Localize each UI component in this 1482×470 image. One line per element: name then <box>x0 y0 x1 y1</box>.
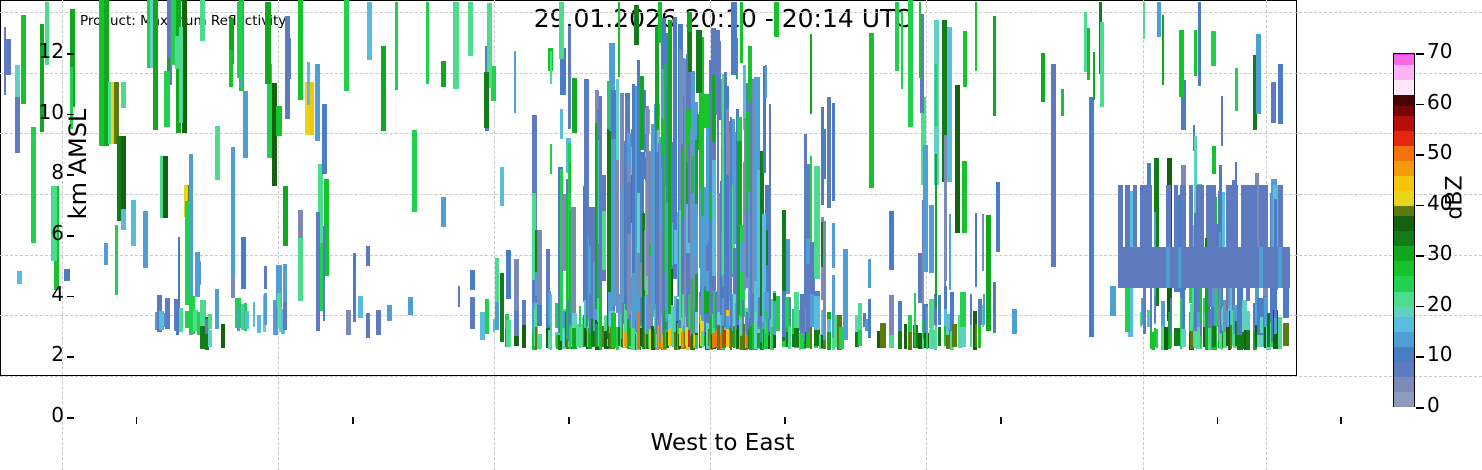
reflectivity-column <box>611 90 616 139</box>
colorbar-tick-mark <box>1416 154 1424 156</box>
reflectivity-column <box>975 2 977 72</box>
reflectivity-column <box>506 250 511 274</box>
reflectivity-column <box>208 314 211 329</box>
colorbar-tick-label: 60 <box>1427 90 1452 114</box>
reflectivity-column <box>500 167 503 206</box>
reflectivity-column <box>1211 31 1217 66</box>
reflectivity-column <box>579 325 582 348</box>
reflectivity-column <box>387 305 392 322</box>
x-tick-mark <box>352 417 354 424</box>
reflectivity-column <box>6 39 11 75</box>
reflectivity-column <box>453 2 459 90</box>
reflectivity-column <box>1164 327 1168 350</box>
reflectivity-column <box>810 34 812 114</box>
reflectivity-column <box>926 307 928 335</box>
colorbar-tick-mark <box>1416 255 1424 257</box>
reflectivity-column <box>441 61 446 87</box>
reflectivity-column <box>104 243 109 265</box>
colorbar-segment <box>1394 331 1414 347</box>
reflectivity-column <box>131 200 136 245</box>
reflectivity-column <box>944 135 947 282</box>
reflectivity-column <box>264 293 267 325</box>
x-tick-mark <box>136 417 138 424</box>
reflectivity-column <box>983 294 985 325</box>
colorbar-tick-label: 70 <box>1427 39 1452 63</box>
reflectivity-column <box>986 215 991 330</box>
reflectivity-column <box>572 78 577 133</box>
reflectivity-column <box>814 296 820 330</box>
reflectivity-column <box>1089 97 1094 337</box>
reflectivity-column <box>919 2 921 79</box>
reflectivity-column <box>1133 185 1138 247</box>
y-axis-label: km AMSL <box>64 74 92 254</box>
reflectivity-column <box>470 297 475 328</box>
reflectivity-column <box>395 2 398 90</box>
reflectivity-column <box>832 223 835 268</box>
reflectivity-column <box>1051 64 1056 267</box>
reflectivity-column <box>412 130 417 212</box>
reflectivity-column <box>786 239 790 294</box>
reflectivity-column <box>243 91 248 158</box>
reflectivity-column <box>1263 185 1268 247</box>
reflectivity-column <box>569 162 571 193</box>
x-axis-label: West to East <box>74 430 1371 456</box>
reflectivity-column <box>1179 30 1184 96</box>
colorbar-tick-mark <box>1416 205 1424 207</box>
reflectivity-column <box>495 258 499 301</box>
reflectivity-column <box>560 109 563 139</box>
reflectivity-column <box>1148 185 1153 247</box>
reflectivity-column <box>1170 298 1172 334</box>
reflectivity-column <box>1061 89 1065 116</box>
reflectivity-column <box>315 64 320 141</box>
reflectivity-column <box>914 293 916 332</box>
reflectivity-column <box>153 0 158 130</box>
reflectivity-column <box>889 211 894 270</box>
reflectivity-column <box>616 143 618 313</box>
reflectivity-column <box>506 320 511 347</box>
colorbar-segment <box>1394 129 1414 145</box>
reflectivity-column <box>868 299 872 338</box>
reflectivity-column <box>426 2 429 85</box>
reflectivity-column <box>1110 286 1115 316</box>
reflectivity-column <box>935 64 937 126</box>
reflectivity-column <box>1221 96 1223 145</box>
reflectivity-column <box>470 270 475 289</box>
x-tick-mark <box>784 417 786 424</box>
y-tick-label: 4 <box>18 282 64 306</box>
reflectivity-column <box>737 117 742 141</box>
reflectivity-column <box>559 2 564 60</box>
reflectivity-column <box>381 46 386 131</box>
reflectivity-column <box>658 2 661 43</box>
reflectivity-column <box>550 51 552 84</box>
reflectivity-column <box>579 306 582 327</box>
reflectivity-column <box>823 129 826 179</box>
reflectivity-column <box>740 2 744 63</box>
reflectivity-column <box>114 82 119 144</box>
reflectivity-column <box>550 294 553 326</box>
reflectivity-column <box>1189 185 1194 247</box>
reflectivity-column <box>276 106 282 136</box>
colorbar-segment <box>1394 260 1414 276</box>
colorbar-segment <box>1394 205 1414 216</box>
reflectivity-column <box>898 301 902 331</box>
reflectivity-column <box>1180 298 1182 328</box>
reflectivity-column <box>602 211 606 271</box>
y-tick-label: 10 <box>18 100 64 124</box>
reflectivity-column <box>832 103 835 200</box>
colorbar-segment <box>1394 275 1414 291</box>
reflectivity-column <box>1093 52 1095 100</box>
colorbar-segment <box>1394 94 1414 105</box>
reflectivity-column <box>895 2 899 72</box>
reflectivity-column <box>880 323 886 348</box>
colorbar-tick-label: 0 <box>1427 393 1440 417</box>
reflectivity-column <box>618 2 620 77</box>
reflectivity-column <box>1211 185 1216 247</box>
colorbar-segment <box>1394 305 1414 316</box>
reflectivity-column <box>1198 2 1200 87</box>
reflectivity-column <box>159 311 163 330</box>
reflectivity-column <box>1233 185 1238 247</box>
colorbar-tick-label: 10 <box>1427 342 1452 366</box>
colorbar-segment <box>1394 145 1414 161</box>
reflectivity-column <box>955 85 960 234</box>
colorbar-segment <box>1394 114 1414 130</box>
reflectivity-column <box>1118 185 1123 247</box>
reflectivity-column <box>1157 2 1161 37</box>
reflectivity-column <box>179 308 184 332</box>
y-tick-label: 8 <box>18 160 64 184</box>
colorbar-segment <box>1394 79 1414 95</box>
reflectivity-column <box>165 298 169 329</box>
x-tick-mark <box>568 417 570 424</box>
y-tick-label: 2 <box>18 342 64 366</box>
reflectivity-column <box>1271 82 1276 122</box>
reflectivity-column <box>929 205 933 273</box>
reflectivity-column <box>1194 30 1197 76</box>
reflectivity-column <box>1087 28 1090 80</box>
y-tick-label: 6 <box>18 221 64 245</box>
colorbar-tick-label: 20 <box>1427 292 1452 316</box>
colorbar-segment <box>1394 230 1414 246</box>
reflectivity-column <box>143 211 148 269</box>
reflectivity-column <box>568 26 571 129</box>
colorbar-segment <box>1394 346 1414 362</box>
reflectivity-column <box>935 307 937 326</box>
reflectivity-column <box>237 2 241 79</box>
reflectivity-column <box>241 237 246 290</box>
reflectivity-column <box>869 33 874 188</box>
reflectivity-column <box>367 2 372 60</box>
reflectivity-column <box>1041 53 1045 102</box>
reflectivity-column <box>1162 15 1165 84</box>
reflectivity-column <box>358 296 363 319</box>
reflectivity-column <box>634 5 639 45</box>
reflectivity-column <box>571 207 575 326</box>
reflectivity-column <box>468 2 473 56</box>
colorbar-segment <box>1394 315 1414 331</box>
reflectivity-column <box>952 324 957 347</box>
reflectivity-column <box>264 266 267 289</box>
reflectivity-columns <box>0 0 1297 376</box>
reflectivity-column <box>1283 323 1288 346</box>
reflectivity-column <box>774 2 779 37</box>
reflectivity-column <box>982 214 985 271</box>
y-tick-label: 0 <box>18 403 64 427</box>
reflectivity-column <box>164 71 170 127</box>
reflectivity-column <box>996 182 999 253</box>
x-tick-mark <box>1340 417 1342 424</box>
reflectivity-column <box>962 161 967 234</box>
plot-area <box>0 0 1297 376</box>
reflectivity-column <box>938 295 941 325</box>
reflectivity-column <box>616 79 618 159</box>
colorbar-segment <box>1394 361 1414 377</box>
colorbar-segment <box>1394 391 1414 407</box>
reflectivity-column <box>1246 311 1250 330</box>
reflectivity-column <box>611 313 616 348</box>
colorbar-tick-mark <box>1416 104 1424 106</box>
reflectivity-column <box>514 311 519 336</box>
reflectivity-column <box>923 145 928 272</box>
reflectivity-column <box>366 246 370 266</box>
reflectivity-column <box>283 264 287 302</box>
reflectivity-column <box>208 330 211 347</box>
colorbar-segment <box>1394 104 1414 115</box>
reflectivity-column <box>944 286 947 309</box>
reflectivity-column <box>322 104 327 174</box>
reflectivity-column <box>189 154 193 307</box>
reflectivity-column <box>901 11 904 89</box>
reflectivity-column <box>441 197 446 227</box>
reflectivity-column <box>839 327 844 349</box>
reflectivity-column <box>307 62 310 105</box>
reflectivity-column <box>1278 185 1283 247</box>
colorbar-segment <box>1394 376 1414 392</box>
reflectivity-column <box>1278 64 1283 125</box>
reflectivity-column <box>458 286 461 307</box>
reflectivity-column <box>537 302 543 326</box>
reflectivity-column <box>353 253 356 312</box>
reflectivity-column <box>765 65 767 98</box>
y-tick-label: 12 <box>18 39 64 63</box>
reflectivity-column <box>1174 185 1179 247</box>
reflectivity-column <box>287 38 291 79</box>
reflectivity-column <box>253 302 255 327</box>
colorbar <box>1393 53 1415 407</box>
colorbar-segment <box>1394 54 1414 55</box>
reflectivity-column <box>121 82 126 108</box>
radar-cross-section-figure: Product: Maximum Reflectivity 29.01.2026… <box>0 0 1482 470</box>
reflectivity-column <box>858 303 862 330</box>
reflectivity-column <box>485 299 489 334</box>
reflectivity-column <box>200 0 205 41</box>
reflectivity-column <box>197 261 201 285</box>
reflectivity-column <box>1125 185 1130 247</box>
x-tick-mark <box>1000 417 1002 424</box>
colorbar-segment <box>1394 215 1414 231</box>
reflectivity-column <box>993 282 996 333</box>
reflectivity-column <box>949 214 951 289</box>
x-tick-mark <box>1217 417 1219 424</box>
reflectivity-column <box>960 292 966 328</box>
colorbar-tick-mark <box>1416 306 1424 308</box>
reflectivity-column <box>814 166 820 279</box>
y-tick-mark <box>67 417 74 419</box>
reflectivity-column <box>555 303 558 328</box>
reflectivity-column <box>346 310 350 335</box>
reflectivity-column <box>975 213 977 288</box>
colorbar-label: dBZ <box>1443 138 1468 258</box>
reflectivity-column <box>938 327 941 346</box>
reflectivity-column <box>175 36 180 70</box>
reflectivity-column <box>366 313 370 338</box>
reflectivity-column <box>1161 301 1165 328</box>
reflectivity-column <box>963 31 967 88</box>
reflectivity-column <box>537 334 543 349</box>
reflectivity-column <box>283 186 288 245</box>
reflectivity-column <box>908 0 913 127</box>
reflectivity-column <box>245 311 249 330</box>
reflectivity-column <box>908 315 912 332</box>
colorbar-tick-mark <box>1416 356 1424 358</box>
reflectivity-column <box>257 315 261 333</box>
reflectivity-column <box>696 30 702 94</box>
colorbar-tick-mark <box>1416 53 1424 55</box>
reflectivity-column <box>769 104 772 304</box>
reflectivity-column <box>344 0 349 91</box>
reflectivity-column <box>843 249 848 340</box>
reflectivity-column <box>1012 309 1017 333</box>
reflectivity-column <box>731 2 737 75</box>
y-tick-mark <box>67 356 74 358</box>
y-tick-mark <box>67 53 74 55</box>
colorbar-segment <box>1394 54 1414 65</box>
reflectivity-column <box>522 300 527 325</box>
reflectivity-column <box>500 273 503 342</box>
reflectivity-column <box>1166 185 1171 247</box>
reflectivity-column <box>231 147 235 277</box>
reflectivity-column <box>1285 247 1290 288</box>
reflectivity-column <box>514 51 516 114</box>
reflectivity-column <box>1154 296 1156 323</box>
reflectivity-column <box>1156 329 1158 348</box>
reflectivity-column <box>1256 34 1261 114</box>
reflectivity-column <box>1235 68 1238 111</box>
reflectivity-column <box>1252 185 1257 247</box>
reflectivity-column <box>704 94 709 129</box>
reflectivity-column <box>298 238 303 300</box>
reflectivity-column <box>1200 185 1205 247</box>
reflectivity-column <box>868 259 872 288</box>
reflectivity-column <box>376 310 381 334</box>
reflectivity-column <box>221 324 225 348</box>
reflectivity-column <box>827 319 830 332</box>
reflectivity-column <box>229 50 233 87</box>
reflectivity-column <box>1212 326 1216 347</box>
reflectivity-column <box>1212 146 1216 174</box>
colorbar-segment <box>1394 160 1414 176</box>
reflectivity-column <box>163 156 168 218</box>
reflectivity-column <box>121 209 126 230</box>
y-tick-mark <box>67 296 74 298</box>
colorbar-segment <box>1394 245 1414 261</box>
reflectivity-column <box>889 295 894 336</box>
reflectivity-column <box>484 72 489 127</box>
reflectivity-column <box>712 160 716 276</box>
reflectivity-column <box>265 2 271 84</box>
reflectivity-column <box>1181 185 1186 247</box>
reflectivity-column <box>537 230 543 304</box>
colorbar-tick-mark <box>1416 407 1424 409</box>
reflectivity-column <box>323 280 326 307</box>
reflectivity-column <box>776 296 780 332</box>
reflectivity-column <box>1150 316 1152 329</box>
reflectivity-column <box>1100 22 1104 107</box>
reflectivity-column <box>115 225 118 295</box>
reflectivity-column <box>1143 2 1145 39</box>
reflectivity-column <box>64 269 69 281</box>
reflectivity-column <box>823 221 826 334</box>
reflectivity-column <box>947 27 952 182</box>
reflectivity-column <box>408 297 413 316</box>
reflectivity-column <box>1278 317 1281 349</box>
reflectivity-column <box>550 144 553 174</box>
reflectivity-column <box>506 271 511 298</box>
reflectivity-column <box>298 0 303 100</box>
colorbar-segment <box>1394 175 1414 191</box>
reflectivity-column <box>688 32 693 72</box>
colorbar-segment <box>1394 190 1414 206</box>
reflectivity-column <box>904 324 907 349</box>
reflectivity-column <box>1181 329 1186 347</box>
reflectivity-column <box>935 154 937 309</box>
colorbar-segment <box>1394 64 1414 80</box>
colorbar-segment <box>1394 290 1414 306</box>
reflectivity-column <box>215 126 220 181</box>
reflectivity-column <box>993 16 997 116</box>
reflectivity-column <box>215 289 219 328</box>
reflectivity-column <box>827 97 830 208</box>
